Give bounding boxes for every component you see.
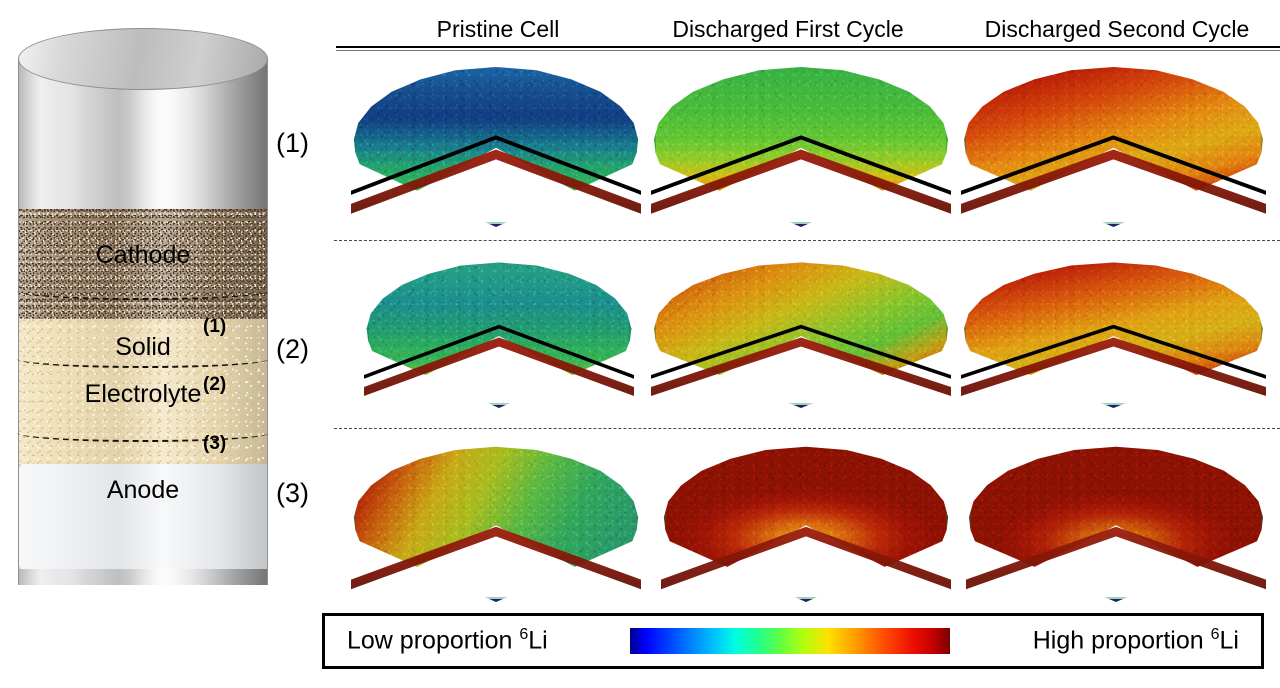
row-separator-1 — [334, 240, 1280, 241]
layer-anode — [19, 464, 267, 569]
volume-rim — [651, 62, 951, 227]
slice-tag-1: (1) — [203, 316, 226, 338]
column-header-row: Pristine Cell Discharged First Cycle Dis… — [332, 16, 1280, 48]
volume-rim — [651, 258, 951, 408]
tomography-panel: Pristine Cell Discharged First Cycle Dis… — [296, 0, 1280, 688]
volume-render — [961, 258, 1266, 408]
legend-low-superscript: 6 — [519, 626, 528, 643]
legend-low-label: Low proportion 6Li — [347, 626, 548, 655]
colorbar-gradient — [630, 628, 950, 654]
volume-render — [966, 442, 1266, 602]
column-header-second-cycle: Discharged Second Cycle — [952, 16, 1280, 43]
colorbar-legend: Low proportion 6Li High proportion 6Li — [322, 613, 1264, 669]
render-row3-pristine — [351, 442, 641, 602]
volume-render — [651, 62, 951, 227]
slice-line-1 — [17, 282, 269, 300]
battery-cell-schematic: (1) (2) (3) Cathode Solid Electrolyte An… — [18, 28, 268, 616]
render-row1-first-cycle — [651, 62, 951, 227]
legend-low-tail: Li — [528, 627, 547, 655]
volume-rim — [661, 442, 951, 602]
layer-cathode — [19, 209, 267, 319]
legend-high-tail: Li — [1220, 627, 1239, 655]
layer-solid-electrolyte — [19, 319, 267, 464]
volume-rim — [961, 62, 1266, 227]
volume-rim — [966, 442, 1266, 602]
volume-render — [651, 258, 951, 408]
row-label-1: (1) — [276, 128, 309, 159]
volume-rim — [351, 62, 641, 227]
row-separator-2 — [334, 428, 1280, 429]
legend-high-text: High proportion — [1033, 627, 1211, 655]
row-label-2: (2) — [276, 334, 309, 365]
header-rule-bottom — [336, 50, 1280, 51]
volume-render — [351, 442, 641, 602]
legend-low-text: Low proportion — [347, 627, 519, 655]
render-row1-pristine — [351, 62, 641, 227]
legend-high-label: High proportion 6Li — [1033, 626, 1239, 655]
row-label-3: (3) — [276, 478, 309, 509]
header-rule-top — [336, 46, 1280, 48]
volume-render — [661, 442, 951, 602]
slice-line-3 — [17, 424, 269, 442]
column-header-pristine: Pristine Cell — [368, 16, 628, 43]
cylinder-body — [18, 59, 268, 585]
volume-rim — [364, 258, 634, 408]
render-row3-second-cycle — [966, 442, 1266, 602]
cylinder-top-ellipse — [18, 28, 268, 90]
render-row2-second-cycle — [961, 258, 1266, 408]
volume-render — [351, 62, 641, 227]
render-row1-second-cycle — [961, 62, 1266, 227]
slice-line-2 — [17, 350, 269, 368]
slice-tag-3: (3) — [203, 433, 226, 455]
volume-rim — [961, 258, 1266, 408]
layer-bottom-current-collector — [19, 569, 267, 585]
volume-render — [364, 258, 634, 408]
volume-rim — [351, 442, 641, 602]
column-header-first-cycle: Discharged First Cycle — [628, 16, 948, 43]
slice-tag-2: (2) — [203, 374, 226, 396]
volume-render — [961, 62, 1266, 227]
render-row2-pristine — [364, 258, 634, 408]
render-row3-first-cycle — [661, 442, 951, 602]
legend-high-superscript: 6 — [1211, 626, 1220, 643]
render-row2-first-cycle — [651, 258, 951, 408]
